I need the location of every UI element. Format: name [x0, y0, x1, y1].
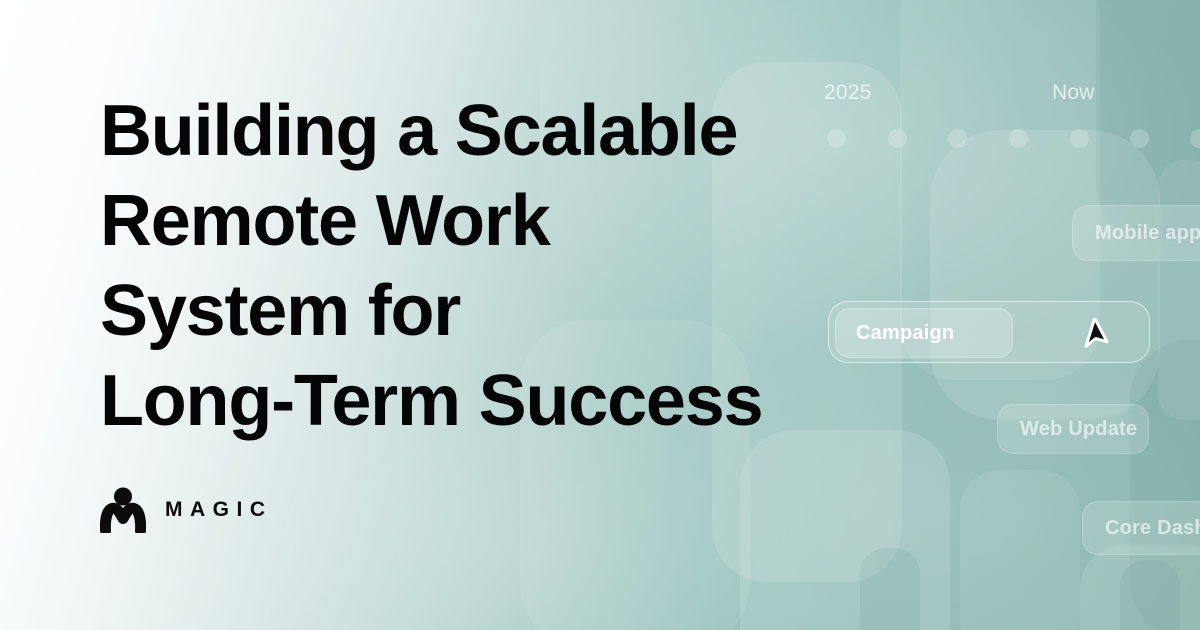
background-block [960, 470, 1080, 630]
background-block [930, 130, 1160, 420]
page-title: Building a Scalable Remote Work System f… [100, 86, 800, 446]
timeline-label-2025: 2025 [824, 81, 872, 105]
background-block [1158, 160, 1200, 420]
timeline-dot [1009, 129, 1028, 148]
task-pill-campaign[interactable]: Campaign [835, 308, 1013, 358]
timeline-dot [888, 129, 907, 148]
timeline-dot [1070, 129, 1089, 148]
social-card-canvas: 2025 Now Mobile app Web Update Core Dash… [0, 0, 1200, 630]
page-title-line: Long-Term Success [100, 356, 800, 446]
page-title-line: Building a Scalable [100, 86, 800, 176]
page-title-line: Remote Work [100, 176, 800, 266]
background-block [1120, 560, 1180, 630]
timeline-dot [1130, 129, 1149, 148]
timeline-dot [948, 129, 967, 148]
mouse-pointer-arrow-icon [1079, 318, 1113, 356]
timeline-label-now: Now [1052, 81, 1095, 105]
task-pill-core-dashboard[interactable]: Core Dashboard [1082, 501, 1200, 555]
page-title-line: System for [100, 266, 800, 356]
timeline-dot [827, 129, 846, 148]
background-block [860, 548, 920, 630]
brand-lockup: MAGIC [100, 487, 273, 533]
task-pill-mobile-app[interactable]: Mobile app [1072, 205, 1200, 261]
brand-wordmark: MAGIC [165, 498, 273, 522]
magic-person-m-logo-icon [100, 487, 146, 533]
selected-task-row[interactable]: Campaign [828, 301, 1150, 363]
task-pill-web-update[interactable]: Web Update [997, 404, 1149, 454]
